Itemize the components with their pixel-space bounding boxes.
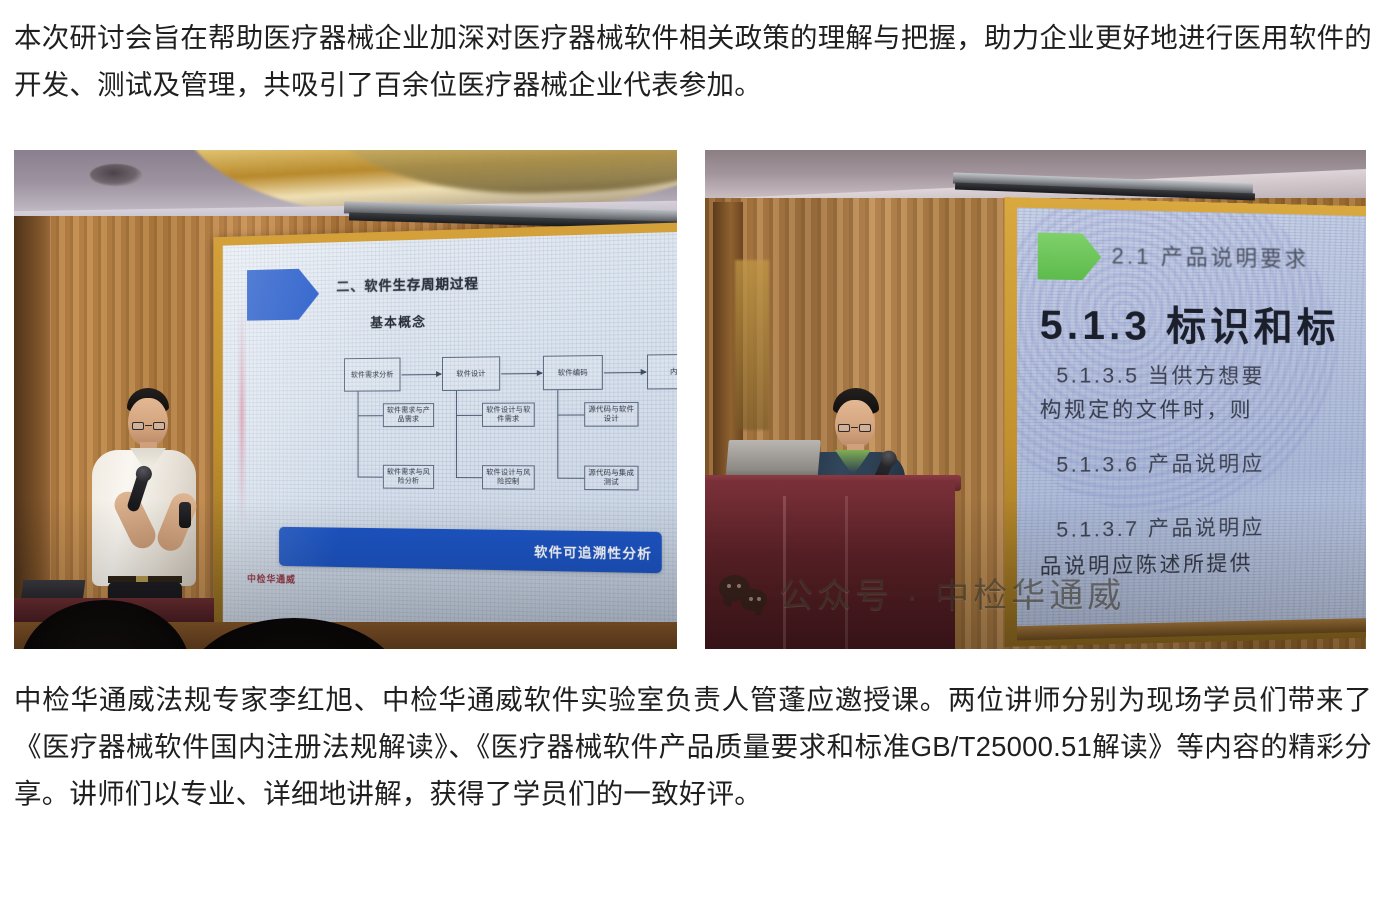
ceiling-downlight: [90, 164, 142, 186]
projection-screen-frame: 二、软件生存周期过程 基本概念 软件需求分析 软件设计 软件编码 内部: [213, 222, 677, 649]
flow-box-main: 软件需求分析: [344, 358, 400, 392]
speaker-glasses: [838, 424, 871, 432]
flow-connector: [358, 477, 383, 478]
slide-title: 二、软件生存周期过程: [336, 272, 479, 295]
flow-arrow-icon: [401, 374, 441, 375]
slide-body-line: 5.1.3.5 当供方想要: [1056, 359, 1265, 390]
seminar-photo-right[interactable]: 2.1 产品说明要求 5.1.3 标识和标 5.1.3.5 当供方想要 构规定的…: [705, 150, 1366, 649]
flow-connector: [557, 478, 584, 479]
flow-connector: [358, 392, 359, 477]
flow-box-sub: 源代码与集成测试: [584, 466, 638, 491]
slide-blue-banner: 软件可追溯性分析: [279, 527, 662, 573]
flow-box-sub: 软件设计与软件需求: [482, 402, 535, 426]
speaker-glasses: [132, 422, 165, 430]
flow-connector: [358, 415, 383, 416]
article-paragraph-bottom: 中检华通威法规专家李红旭、中检华通威软件实验室负责人管蓬应邀授课。两位讲师分别为…: [14, 676, 1372, 817]
article-page: 本次研讨会旨在帮助医疗器械企业加深对医疗器械软件相关政策的理解与把握，助力企业更…: [0, 0, 1380, 904]
slide-banner-label: 软件可追溯性分析: [534, 541, 652, 562]
slide-body-line: 5.1.3.7 产品说明应: [1056, 511, 1265, 544]
wechat-icon: [719, 575, 767, 611]
flow-connector: [456, 415, 482, 416]
photo-gallery: 二、软件生存周期过程 基本概念 软件需求分析 软件设计 软件编码 内部: [14, 150, 1366, 649]
flow-box-sub: 源代码与软件设计: [584, 402, 638, 427]
slide-subtitle: 基本概念: [370, 311, 426, 331]
flow-arrow-icon: [604, 372, 646, 374]
blue-chevron-icon: [247, 268, 319, 320]
slide-footer-logo: 中检华通威: [247, 571, 296, 586]
gold-wall-decor: [735, 260, 769, 430]
podium: [705, 480, 955, 649]
wechat-watermark: 公众号 · 中检华通威: [719, 568, 1125, 617]
flow-box-sub: 软件需求与风险分析: [383, 465, 434, 489]
slide-heading: 5.1.3 标识和标: [1040, 292, 1339, 353]
flow-box-sub: 软件需求与产品需求: [383, 403, 434, 427]
flow-connector: [557, 414, 584, 415]
flow-arrow-icon: [501, 373, 542, 375]
article-paragraph-top: 本次研讨会旨在帮助医疗器械企业加深对医疗器械软件相关政策的理解与把握，助力企业更…: [14, 14, 1372, 108]
flow-box-main: 内部: [647, 354, 677, 390]
screen-bottom-edge: [1017, 617, 1366, 641]
seminar-photo-left[interactable]: 二、软件生存周期过程 基本概念 软件需求分析 软件设计 软件编码 内部: [14, 150, 677, 649]
slide-chevron-title: 2.1 产品说明要求: [1111, 238, 1308, 274]
slide-body-line: 5.1.3.6 产品说明应: [1056, 448, 1265, 479]
presentation-clicker: [179, 502, 191, 528]
screen-light-streak: [240, 303, 245, 526]
flow-box-main: 软件设计: [442, 356, 500, 391]
flow-box-main: 软件编码: [543, 355, 603, 390]
projection-screen: 二、软件生存周期过程 基本概念 软件需求分析 软件设计 软件编码 内部: [223, 232, 677, 649]
flow-connector: [456, 391, 457, 477]
slide-body-line: 构规定的文件时，则: [1040, 393, 1253, 424]
flow-connector: [557, 390, 558, 477]
slide-flowchart: 软件需求分析 软件设计 软件编码 内部: [344, 354, 677, 510]
flow-connector: [456, 477, 482, 478]
flow-box-sub: 软件设计与风险控制: [482, 465, 535, 490]
wechat-watermark-label: 公众号 · 中检华通威: [779, 568, 1125, 617]
